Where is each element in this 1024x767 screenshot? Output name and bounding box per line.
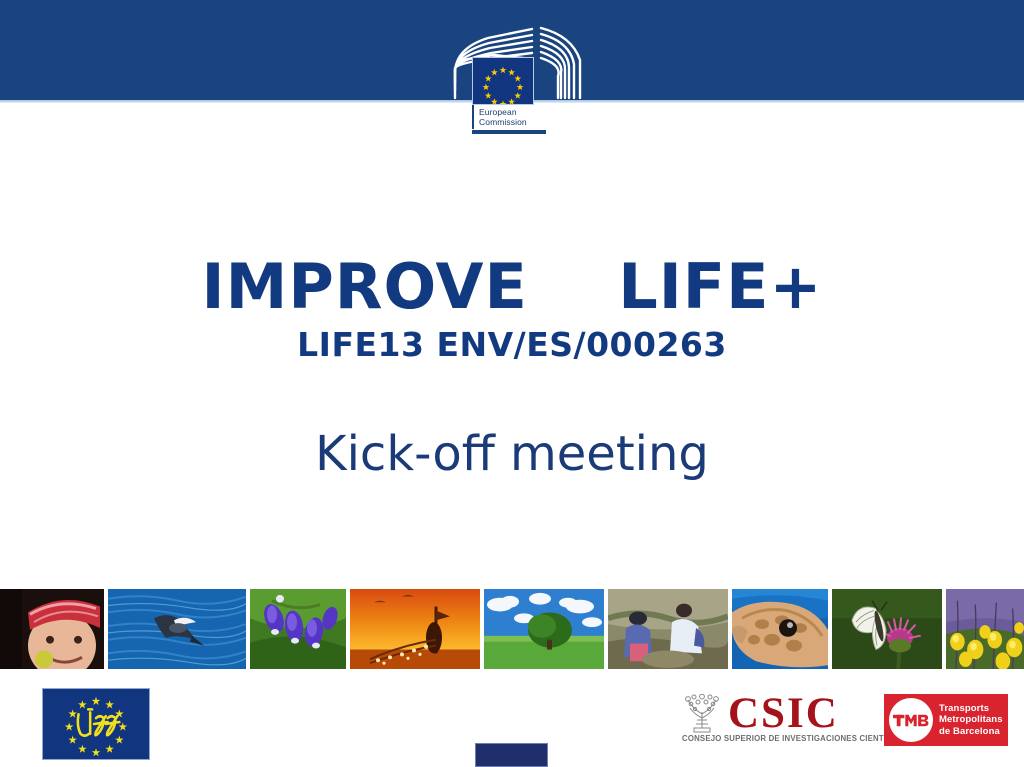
- tmb-logo: Transports Metropolitans de Barcelona: [884, 694, 1008, 746]
- project-code: LIFE13 ENV/ES/000263: [0, 324, 1024, 366]
- page-title: IMPROVE LIFE+: [0, 252, 1024, 322]
- tmb-circle-icon: [889, 698, 933, 742]
- ec-caption-line1: European: [479, 107, 546, 117]
- tmb-tagline: Transports Metropolitans de Barcelona: [939, 703, 1003, 738]
- life-programme-logo: [42, 688, 150, 760]
- tmb-tagline-line1: Transports: [939, 703, 1003, 715]
- european-commission-logo: European Commission: [420, 24, 605, 144]
- tmb-tagline-line2: Metropolitans: [939, 714, 1003, 726]
- photo-girl-with-headscarf: [0, 588, 104, 670]
- photo-strip: [0, 588, 1024, 670]
- photo-tree-in-meadow: [484, 588, 604, 670]
- title-block: IMPROVE LIFE+ LIFE13 ENV/ES/000263: [0, 252, 1024, 366]
- csic-wordmark: CSIC: [728, 690, 839, 738]
- photo-seabird-over-ocean: [108, 588, 246, 670]
- ec-caption: European Commission: [472, 105, 546, 129]
- ec-caption-bar: [472, 130, 546, 134]
- csic-tagline: CONSEJO SUPERIOR DE INVESTIGACIONES CIEN…: [682, 734, 911, 743]
- slide-subtitle: Kick-off meeting: [0, 424, 1024, 484]
- csic-emblem-icon: [680, 694, 724, 734]
- photo-yellow-wildflowers: [946, 588, 1024, 670]
- eu-flag-icon: [472, 57, 534, 105]
- tmb-wordmark-icon: [892, 711, 930, 730]
- bottom-accent-tab: [475, 743, 548, 767]
- ec-caption-line2: Commission: [479, 117, 546, 127]
- tmb-tagline-line3: de Barcelona: [939, 726, 1003, 738]
- photo-sunset-fishing-net: [350, 588, 480, 670]
- photo-butterfly-on-thistle: [832, 588, 942, 670]
- csic-logo: CSIC CONSEJO SUPERIOR DE INVESTIGACIONES…: [680, 694, 878, 746]
- photo-sea-turtle: [732, 588, 828, 670]
- photo-field-researchers: [608, 588, 728, 670]
- photo-bluebell-flowers: [250, 588, 346, 670]
